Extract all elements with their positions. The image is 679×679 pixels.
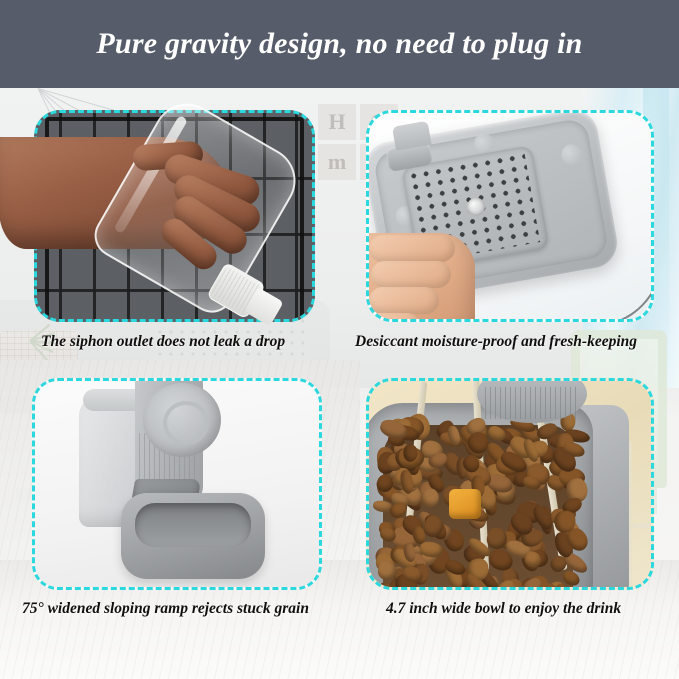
caption-desiccant: Desiccant moisture-proof and fresh-keepi…: [355, 333, 637, 351]
finger: [369, 287, 439, 314]
caption-wide-bowl: 4.7 inch wide bowl to enjoy the drink: [386, 600, 621, 618]
panel-4-clip: [369, 381, 651, 587]
finger: [369, 235, 455, 262]
panel-sloping-ramp: [32, 378, 322, 590]
hand-holding-lid: [369, 233, 475, 319]
panel-3-clip: [35, 381, 319, 587]
header-banner: Pure gravity design, no need to plug in: [0, 0, 679, 88]
panel-siphon-outlet: [34, 110, 315, 322]
panel-wide-bowl: [366, 378, 654, 590]
finger: [371, 261, 451, 288]
feeder-bowl: [121, 493, 265, 579]
wall-letter: m: [318, 144, 356, 180]
page-title: Pure gravity design, no need to plug in: [96, 27, 582, 61]
kibble-highlight-piece: [449, 489, 481, 519]
caption-siphon-outlet: The siphon outlet does not leak a drop: [41, 333, 285, 351]
grid-center-knob: [466, 196, 487, 217]
panel-desiccant-lid: [366, 110, 654, 322]
wall-letter: H: [318, 104, 356, 140]
feeder-cap-knob: [143, 383, 221, 457]
finger: [369, 313, 421, 319]
caption-sloping-ramp: 75° widened sloping ramp rejects stuck g…: [22, 600, 309, 618]
product-feature-image: H O m e Pure gravity design, no need to …: [0, 0, 679, 679]
bowl-interior: [135, 503, 251, 547]
feeder-top-ribbed: [477, 381, 587, 423]
panel-2-clip: [369, 113, 651, 319]
